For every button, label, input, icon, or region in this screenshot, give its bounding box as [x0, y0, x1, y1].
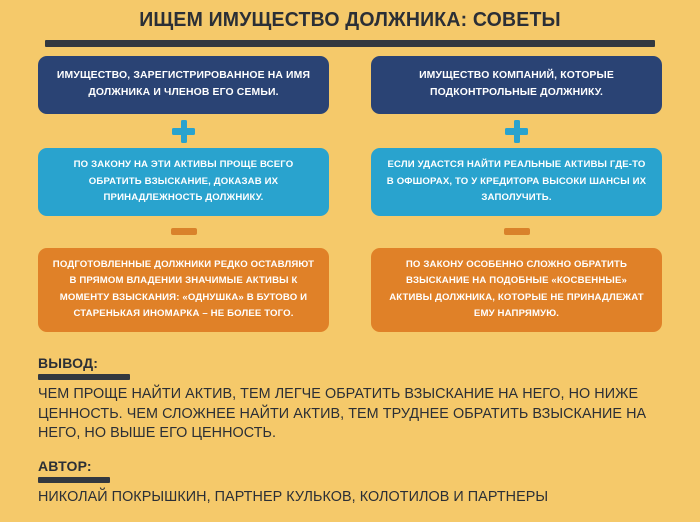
- plus-icon: [505, 120, 528, 143]
- conclusion-text: ЧЕМ ПРОЩЕ НАЙТИ АКТИВ, ТЕМ ЛЕГЧЕ ОБРАТИТ…: [38, 385, 659, 442]
- conclusion-label: ВЫВОД:: [38, 356, 668, 371]
- page-title: ИЩЕМ ИМУЩЕСТВО ДОЛЖНИКА: СОВЕТЫ: [18, 9, 683, 32]
- column-left: ИМУЩЕСТВО, ЗАРЕГИСТРИРОВАННОЕ НА ИМЯ ДОЛ…: [38, 56, 329, 332]
- infographic-page: ИЩЕМ ИМУЩЕСТВО ДОЛЖНИКА: СОВЕТЫ ИМУЩЕСТВ…: [0, 0, 700, 522]
- pro-card-left: ПО ЗАКОНУ НА ЭТИ АКТИВЫ ПРОЩЕ ВСЕГО ОБРА…: [38, 148, 329, 216]
- connector-minus-left: [171, 216, 197, 248]
- author-block: АВТОР: НИКОЛАЙ ПОКРЫШКИН, ПАРТНЕР КУЛЬКО…: [38, 459, 668, 508]
- minus-icon: [171, 228, 197, 235]
- connector-plus-right: [505, 114, 528, 148]
- pro-card-right: ЕСЛИ УДАСТСЯ НАЙТИ РЕАЛЬНЫЕ АКТИВЫ ГДЕ-Т…: [371, 148, 662, 216]
- plus-icon: [172, 120, 195, 143]
- author-label: АВТОР:: [38, 459, 668, 474]
- column-right: ИМУЩЕСТВО КОМПАНИЙ, КОТОРЫЕ ПОДКОНТРОЛЬН…: [371, 56, 662, 332]
- asset-card-right: ИМУЩЕСТВО КОМПАНИЙ, КОТОРЫЕ ПОДКОНТРОЛЬН…: [371, 56, 662, 114]
- con-card-right: ПО ЗАКОНУ ОСОБЕННО СЛОЖНО ОБРАТИТЬ ВЗЫСК…: [371, 248, 662, 332]
- header: ИЩЕМ ИМУЩЕСТВО ДОЛЖНИКА: СОВЕТЫ: [0, 0, 700, 47]
- conclusion-underline: [38, 374, 130, 380]
- connector-minus-right: [504, 216, 530, 248]
- author-underline: [38, 477, 110, 483]
- minus-icon: [504, 228, 530, 235]
- header-divider: [45, 40, 655, 47]
- conclusion-block: ВЫВОД: ЧЕМ ПРОЩЕ НАЙТИ АКТИВ, ТЕМ ЛЕГЧЕ …: [38, 356, 668, 443]
- bottom-section: ВЫВОД: ЧЕМ ПРОЩЕ НАЙТИ АКТИВ, ТЕМ ЛЕГЧЕ …: [38, 356, 668, 507]
- con-card-left: ПОДГОТОВЛЕННЫЕ ДОЛЖНИКИ РЕДКО ОСТАВЛЯЮТ …: [38, 248, 329, 332]
- connector-plus-left: [172, 114, 195, 148]
- columns-container: ИМУЩЕСТВО, ЗАРЕГИСТРИРОВАННОЕ НА ИМЯ ДОЛ…: [38, 56, 662, 332]
- author-text: НИКОЛАЙ ПОКРЫШКИН, ПАРТНЕР КУЛЬКОВ, КОЛО…: [38, 488, 659, 507]
- asset-card-left: ИМУЩЕСТВО, ЗАРЕГИСТРИРОВАННОЕ НА ИМЯ ДОЛ…: [38, 56, 329, 114]
